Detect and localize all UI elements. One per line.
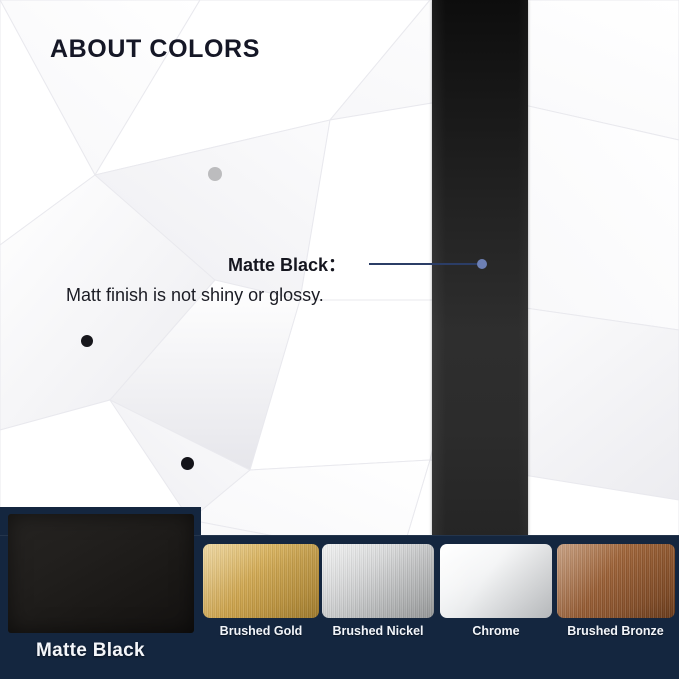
swatch-label-matte-black: Matte Black xyxy=(36,640,145,662)
product-color-infographic: ABOUT COLORS Matte Black： Matt finish is… xyxy=(0,0,679,679)
vertex-dot-gray xyxy=(208,167,222,181)
gloss-overlay xyxy=(322,544,434,618)
gloss-overlay xyxy=(203,544,319,618)
callout-endpoint-dot xyxy=(477,259,487,269)
swatch-label-brushed-gold: Brushed Gold xyxy=(203,624,319,640)
callout-label: Matte Black： xyxy=(228,251,346,277)
swatch-tile-brushed-nickel[interactable] xyxy=(322,544,434,618)
swatch-tile-brushed-bronze[interactable] xyxy=(557,544,675,618)
swatch-label-brushed-bronze: Brushed Bronze xyxy=(552,624,679,640)
swatch-tile-chrome[interactable] xyxy=(440,544,552,618)
swatch-label-brushed-nickel: Brushed Nickel xyxy=(322,624,434,640)
swatch-tile-matte-black[interactable] xyxy=(8,514,194,633)
gloss-overlay xyxy=(440,544,552,618)
vertex-dot-dark2 xyxy=(181,457,194,470)
gloss-overlay xyxy=(557,544,675,618)
panel-left-sheen xyxy=(432,0,446,536)
callout-leader-line xyxy=(369,263,481,265)
swatch-tile-brushed-gold[interactable] xyxy=(203,544,319,618)
callout-description: Matt finish is not shiny or glossy. xyxy=(66,285,324,306)
page-title: ABOUT COLORS xyxy=(50,35,260,64)
panel-right-sheen xyxy=(518,0,528,536)
swatch-label-chrome: Chrome xyxy=(440,624,552,640)
vertex-dot-dark xyxy=(81,335,93,347)
